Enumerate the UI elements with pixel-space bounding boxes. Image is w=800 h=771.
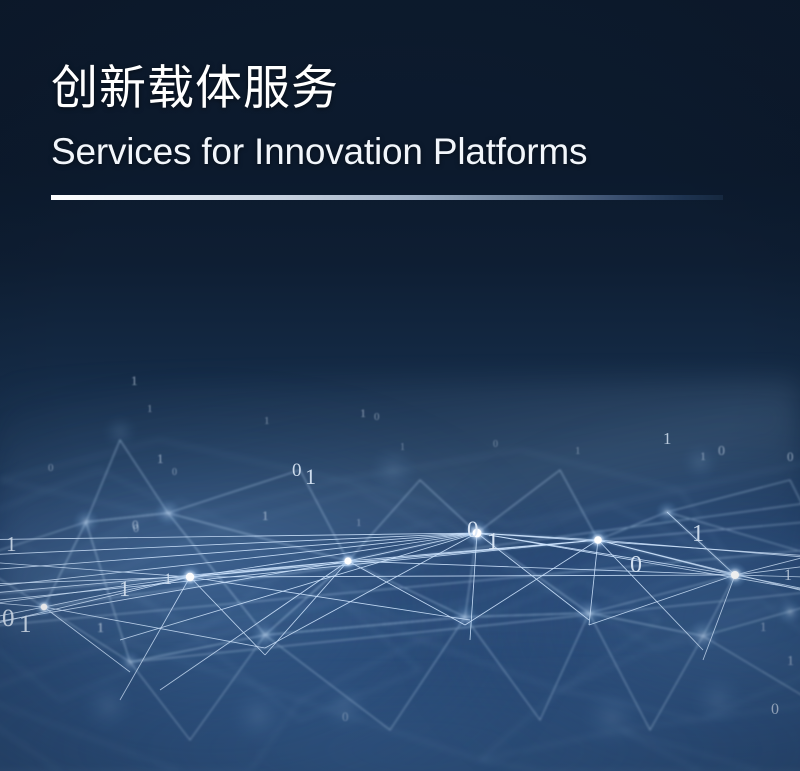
title-divider	[51, 195, 723, 200]
innovation-platforms-banner: 101111111000101100101010111001011110 创新载…	[0, 0, 800, 771]
banner-heading: 创新载体服务 Services for Innovation Platforms	[51, 58, 751, 200]
page-title-chinese: 创新载体服务	[51, 58, 751, 118]
page-subtitle-english: Services for Innovation Platforms	[51, 132, 751, 173]
